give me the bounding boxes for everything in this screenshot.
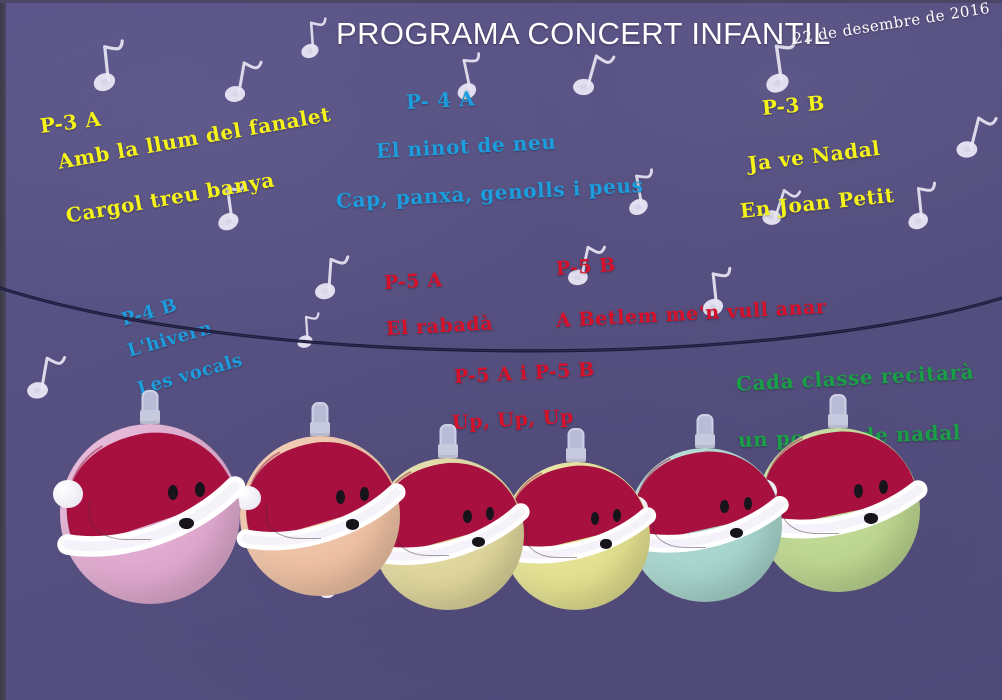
ornament-eye-left — [591, 512, 599, 525]
eighth-note-icon — [314, 249, 358, 311]
poster-top-edge — [0, 0, 1002, 3]
ornament-eye-right — [613, 509, 621, 522]
program-class-p5a: P-5 A — [383, 269, 443, 294]
page-title: PROGRAMA CONCERT INFANTIL — [336, 16, 831, 52]
ornament-eye-left — [463, 510, 471, 523]
ornament-eye-right — [486, 507, 494, 520]
ornament-eye-right — [195, 482, 205, 497]
ornament-eye-left — [336, 490, 345, 504]
eighth-note-icon — [89, 34, 139, 102]
ornament-mouth — [346, 519, 360, 529]
ornament-mouth — [600, 539, 613, 549]
ornament-cap — [140, 410, 160, 424]
ornament-eye-right — [744, 497, 752, 510]
eighth-note-icon — [904, 177, 950, 240]
ornament-pink — [60, 390, 240, 626]
ornament-eye-right — [360, 487, 369, 501]
program-class-p5b: P-5 B — [555, 254, 616, 280]
hat-pompom — [53, 480, 84, 508]
ornament-mouth — [864, 513, 878, 524]
eighth-note-icon — [299, 13, 338, 67]
program-class-p4a: P- 4 A — [405, 86, 475, 114]
ornament-mouth — [730, 528, 743, 538]
eighth-note-icon — [295, 309, 329, 356]
ornament-peach — [240, 402, 400, 618]
poster-left-edge — [0, 0, 6, 700]
poster-canvas: PROGRAMA CONCERT INFANTIL 22 de desembre… — [0, 0, 1002, 700]
